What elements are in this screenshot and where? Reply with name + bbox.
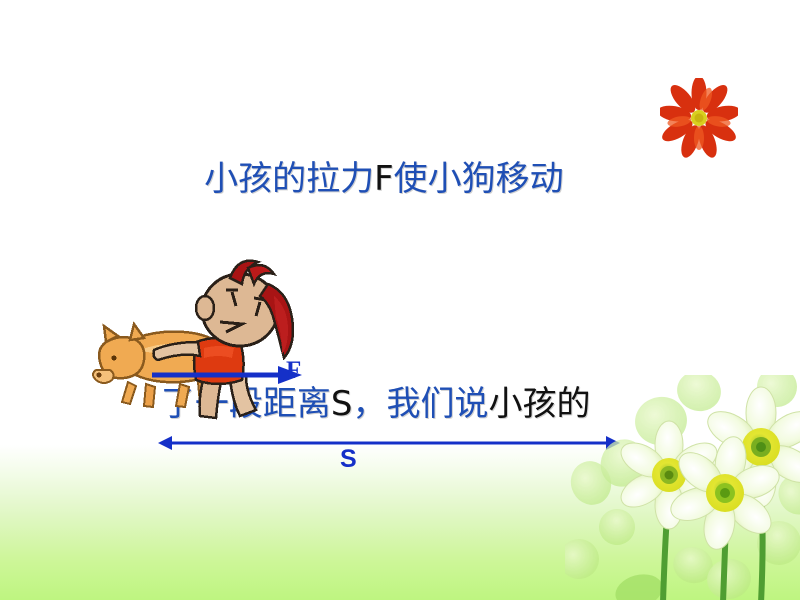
text-seg-1-2: F (374, 159, 394, 199)
force-label: F (286, 358, 301, 383)
arrowhead-left (158, 436, 172, 450)
dog-eye (111, 355, 116, 360)
narcissus-flower-cluster (565, 375, 800, 600)
text-seg-2-3: ，我们说 (352, 384, 488, 424)
slide-canvas: 小孩的拉力F使小狗移动 了一段距离S，我们说小孩的 拉力对小狗做了功，或简单的 … (0, 0, 800, 600)
text-line-1: 小孩的拉力F使小狗移动 (96, 112, 656, 247)
child-pulling-dog-illustration (92, 258, 322, 423)
text-seg-1-1: 小孩的拉力 (161, 159, 374, 199)
text-seg-2-2: S (331, 384, 353, 424)
dog-nose (96, 372, 101, 377)
distance-label: S (340, 447, 357, 472)
force-arrow (152, 364, 302, 386)
distance-arrow (158, 434, 620, 452)
red-daisy-flower-icon (660, 78, 738, 158)
text-seg-1-3: 使小狗移动 (394, 159, 564, 199)
